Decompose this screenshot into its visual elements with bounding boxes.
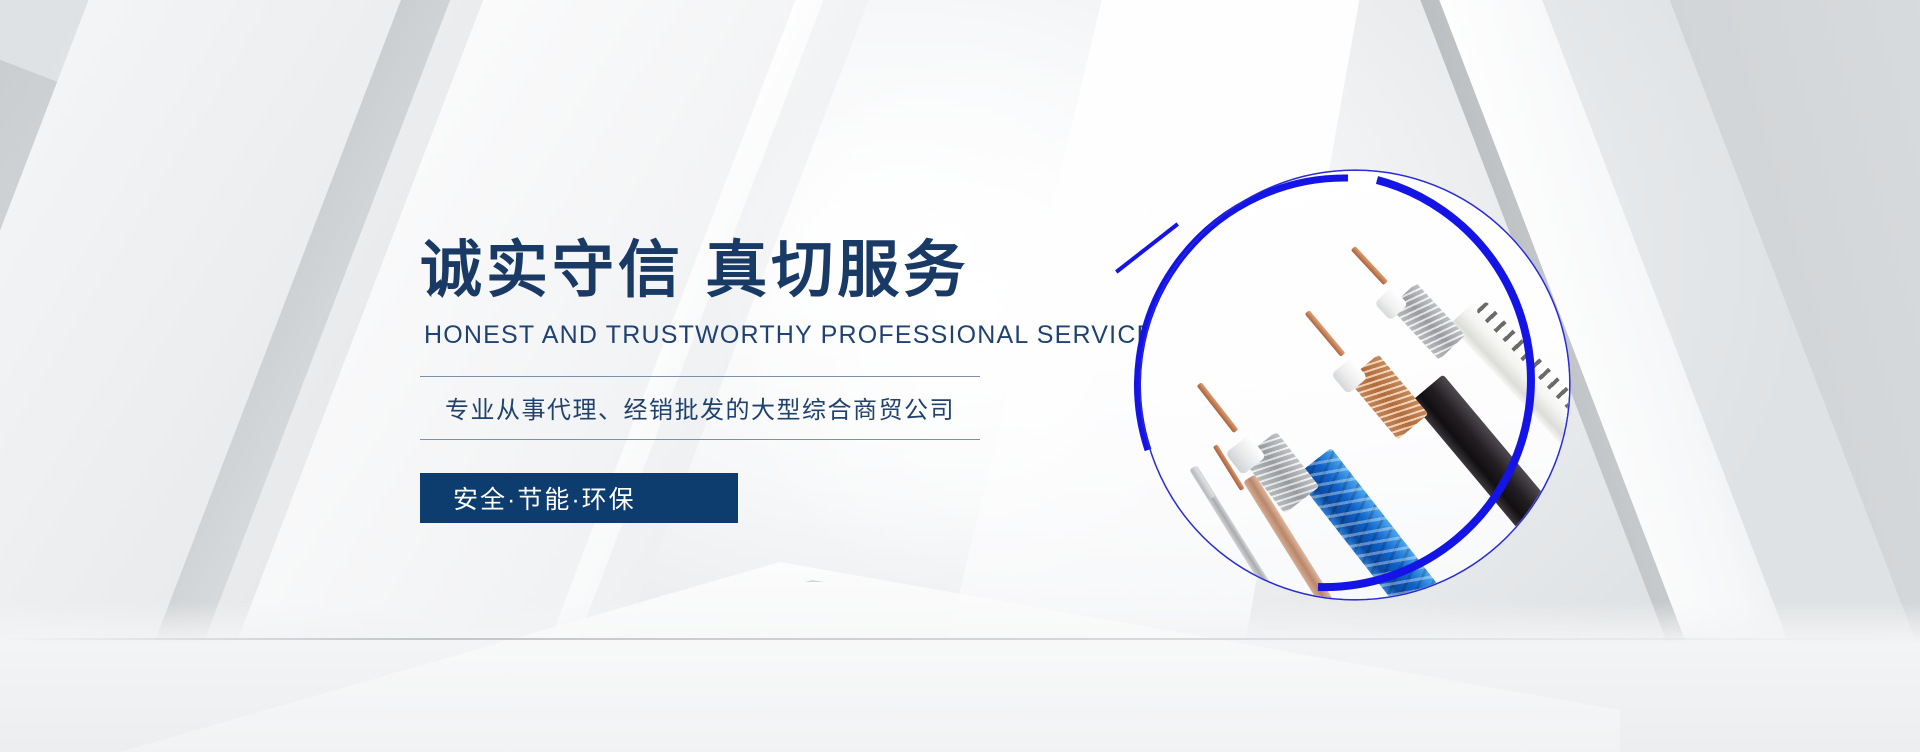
blue-ring-svg (1120, 150, 1590, 620)
feature-ribbon[interactable]: 安全·节能·环保 (420, 473, 738, 523)
ring-arc-right (1318, 180, 1531, 587)
banner-description-rule: 专业从事代理、经销批发的大型综合商贸公司 (420, 376, 980, 440)
banner-copy: 诚实守信 真切服务 HONEST AND TRUSTWORTHY PROFESS… (420, 238, 1080, 523)
background-floor-edge (0, 638, 1920, 640)
blue-ring (1120, 150, 1590, 620)
banner-description: 专业从事代理、经销批发的大型综合商贸公司 (420, 390, 980, 425)
banner-headline: 诚实守信 真切服务 (420, 238, 1080, 305)
product-circle (1120, 150, 1590, 620)
banner-subtitle-en: HONEST AND TRUSTWORTHY PROFESSIONAL SERV… (424, 321, 1080, 350)
ribbon-label: 安全·节能·环保 (420, 480, 636, 516)
ring-arc-upper-left (1138, 178, 1348, 450)
hero-banner: 诚实守信 真切服务 HONEST AND TRUSTWORTHY PROFESS… (0, 0, 1920, 752)
